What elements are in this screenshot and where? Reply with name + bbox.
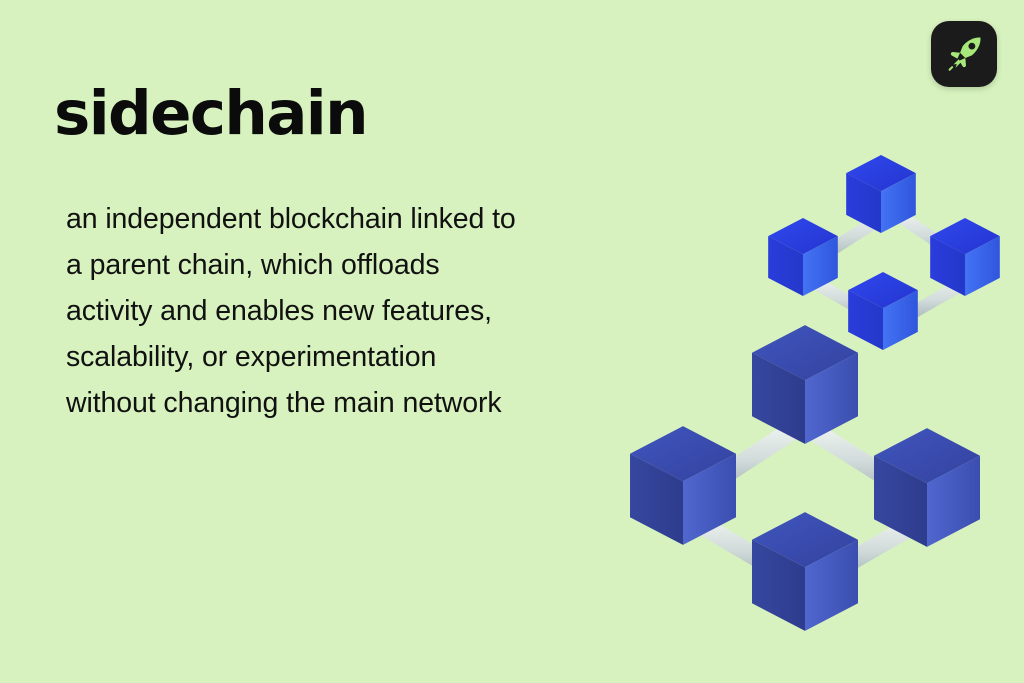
definition-text: an independent blockchain linked to a pa… (66, 196, 686, 426)
rod-left-bottom (812, 281, 884, 322)
cube-bottom (752, 512, 858, 631)
rod-left-top (812, 215, 886, 262)
rod-top-right (815, 432, 915, 495)
rocket-icon (943, 33, 985, 75)
cube-bottom (848, 272, 918, 350)
rocket-logo-badge[interactable] (931, 21, 997, 87)
upper-cluster-rods (812, 215, 968, 322)
cube-left (768, 218, 838, 296)
lower-cluster-rods (698, 432, 915, 580)
cube-left (630, 426, 736, 545)
rod-left-bottom (700, 524, 795, 580)
definition-line: scalability, or experimentation (66, 334, 686, 380)
page-title: sidechain (54, 82, 367, 146)
definition-card: sidechain an independent blockchain link… (0, 0, 1024, 683)
definition-line: an independent blockchain linked to (66, 196, 686, 242)
definition-line: without changing the main network (66, 380, 686, 426)
rod-left-top (698, 432, 790, 492)
upper-cluster (768, 155, 1000, 350)
definition-line: activity and enables new features, (66, 288, 686, 334)
cube-top (752, 325, 858, 444)
cube-right (874, 428, 980, 547)
rod-top-right (898, 215, 968, 262)
cube-top (846, 155, 916, 233)
rod-bottom-right (896, 281, 968, 322)
cube-right (930, 218, 1000, 296)
rod-bottom-right (818, 524, 915, 580)
definition-line: a parent chain, which offloads (66, 242, 686, 288)
